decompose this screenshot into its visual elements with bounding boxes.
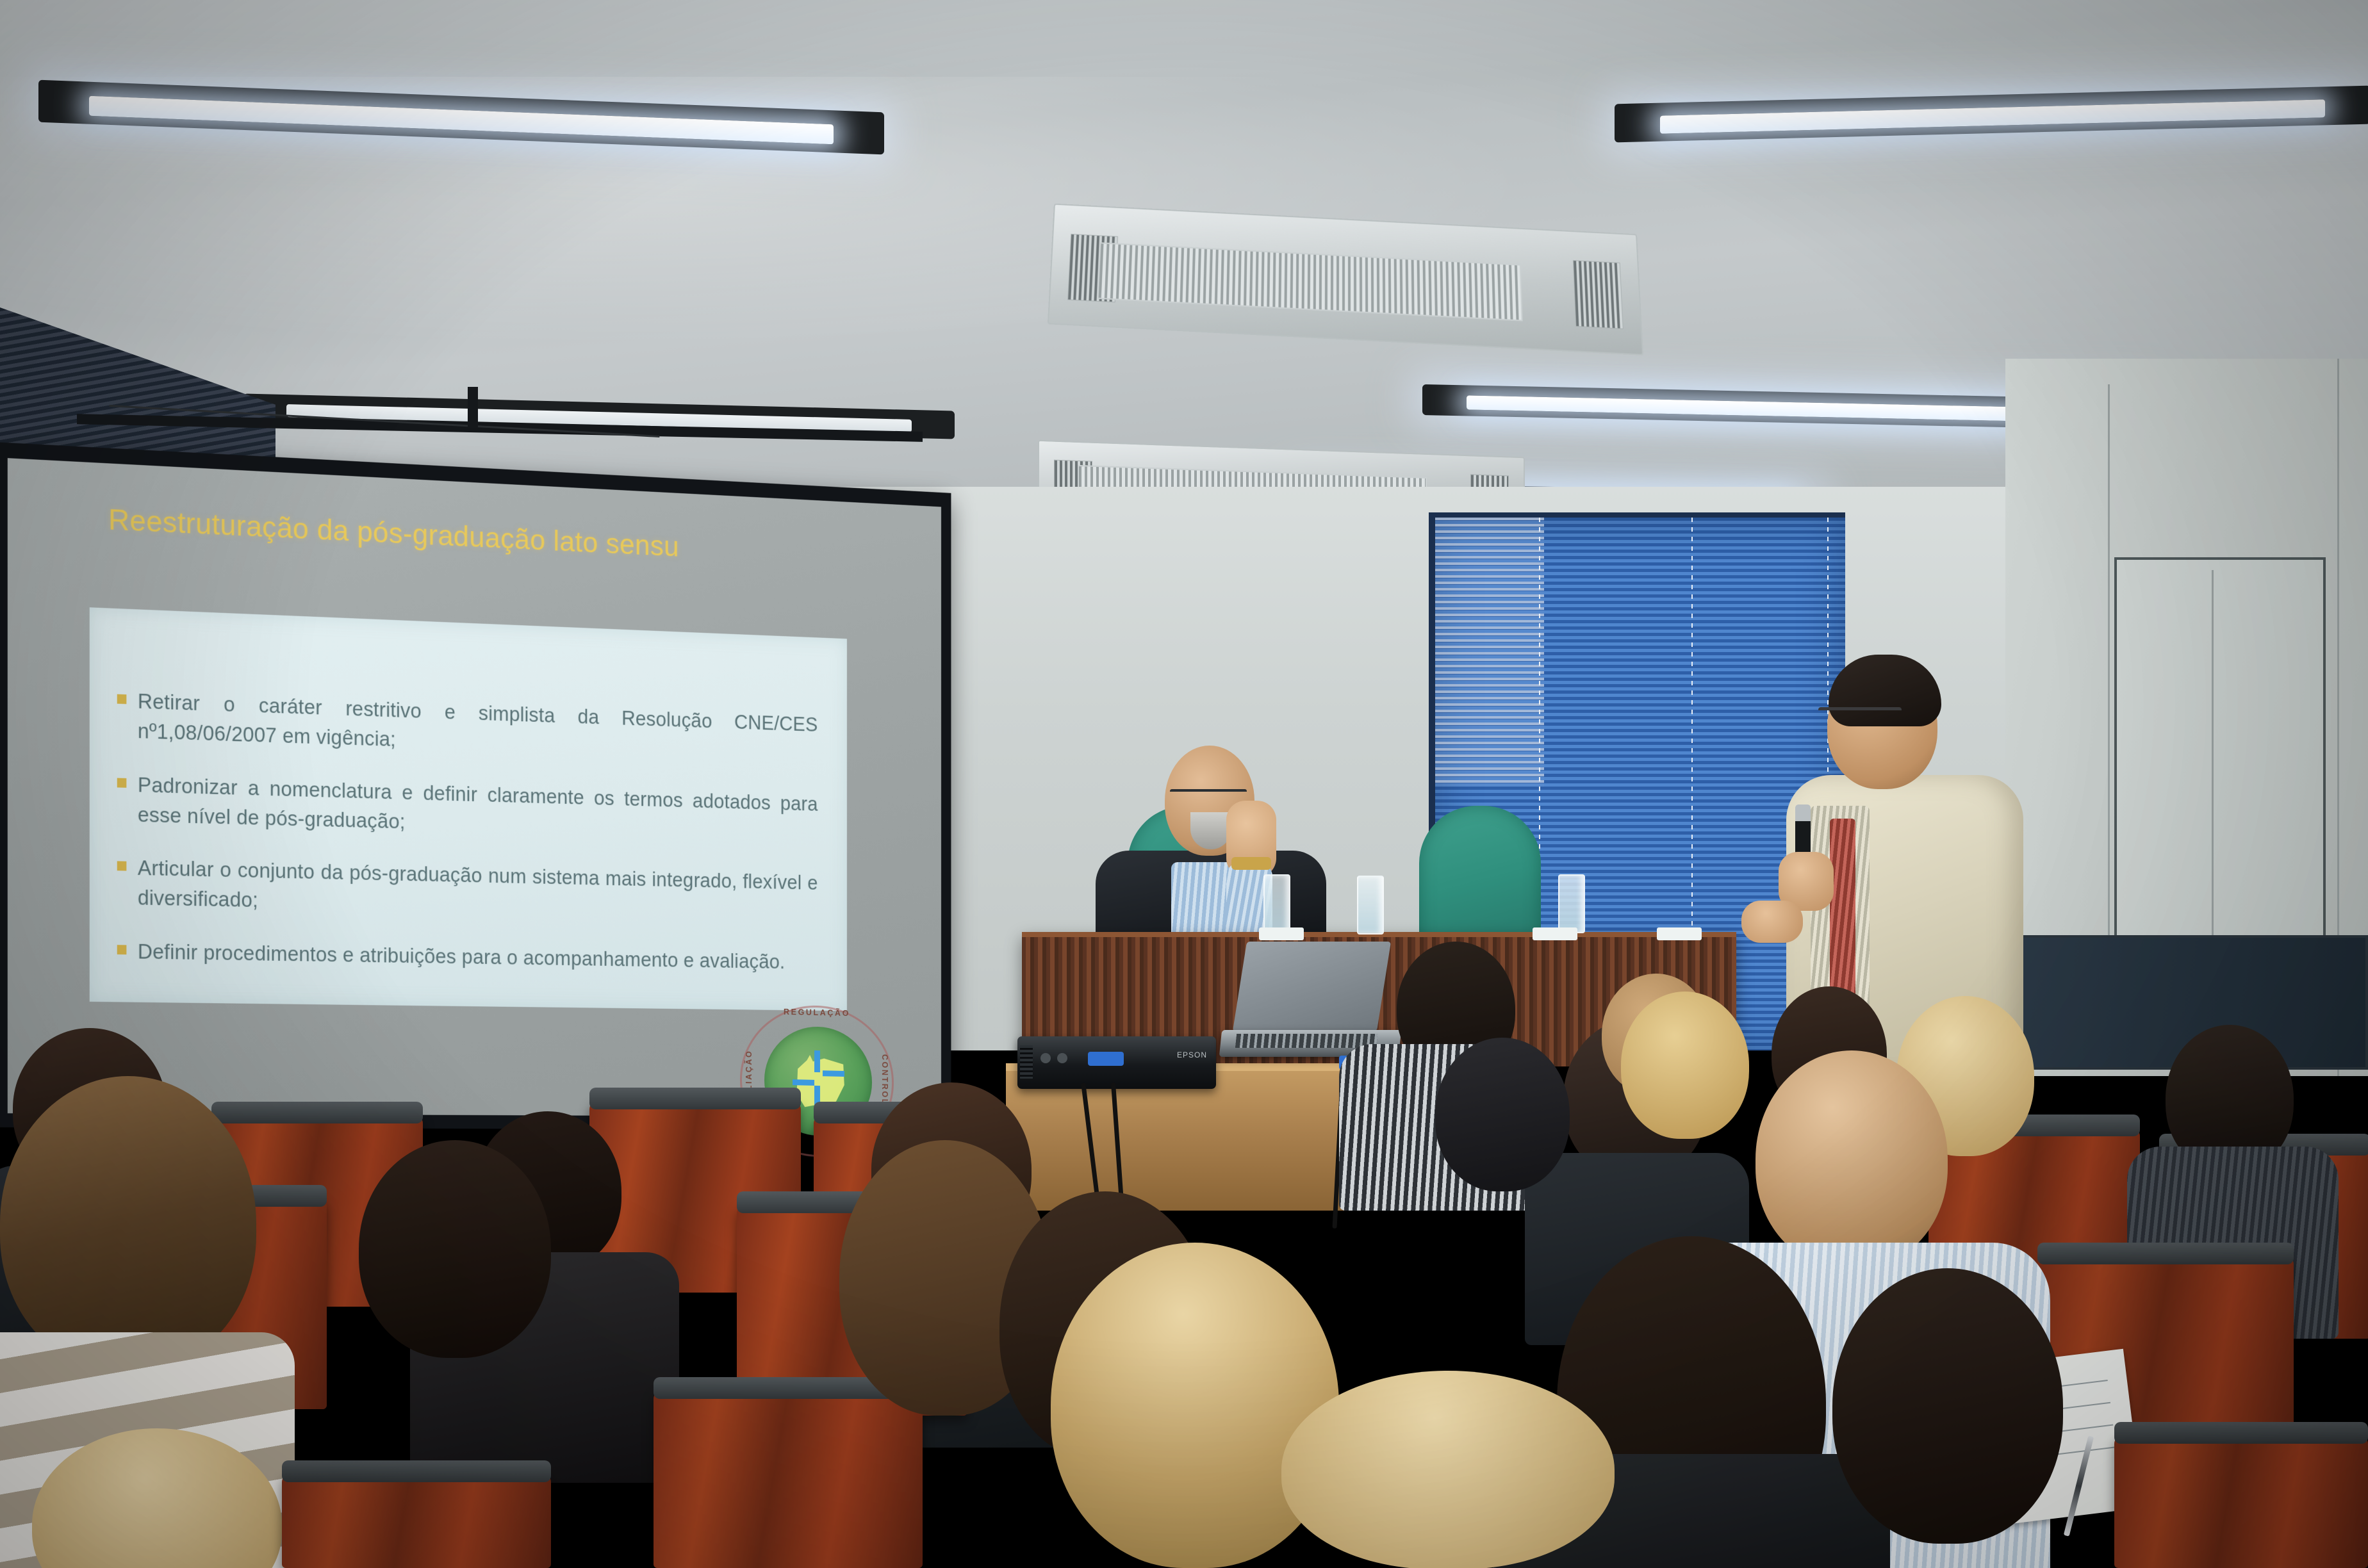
- laptop-screen: [1233, 942, 1391, 1031]
- list-item: Articular o conjunto da pós-graduação nu…: [117, 853, 818, 926]
- bullet-marker-icon: [117, 778, 127, 787]
- water-glass: [1558, 874, 1585, 933]
- projector-port-icon: [1040, 1053, 1051, 1063]
- napkin: [1657, 927, 1702, 940]
- audience-head: [1435, 1038, 1570, 1191]
- seal-arrow-up: [814, 1050, 820, 1072]
- screen-support-post: [468, 387, 478, 428]
- bullet-marker-icon: [117, 862, 127, 871]
- list-item: Padronizar a nomenclatura e definir clar…: [117, 769, 818, 846]
- moderator-glasses-icon: [1170, 789, 1247, 795]
- bullet-text: Definir procedimentos e atribuições para…: [138, 937, 785, 976]
- projection-screen: Reestruturação da pós-graduação lato sen…: [0, 442, 1032, 1127]
- moderator-watch: [1231, 857, 1271, 870]
- laptop-keyboard[interactable]: [1235, 1034, 1377, 1048]
- bullet-marker-icon: [117, 945, 127, 954]
- bullet-marker-icon: [117, 694, 127, 704]
- seal-arrow-left: [793, 1079, 814, 1086]
- audience-head-dark: [359, 1140, 551, 1358]
- slide-title: Reestruturação da pós-graduação lato sen…: [108, 500, 752, 568]
- projector-port-icon: [1057, 1053, 1067, 1063]
- blinds-light-leak: [1435, 518, 1544, 787]
- water-glass: [1263, 874, 1290, 933]
- seal-arrow-right: [823, 1070, 844, 1077]
- audience-head-brown: [0, 1076, 256, 1371]
- bullet-text: Retirar o caráter restritivo e simplista…: [138, 687, 818, 767]
- vga-connector: [1088, 1052, 1124, 1066]
- audience-chair[interactable]: [2114, 1435, 2368, 1568]
- seal-top-text: REGULAÇÃO: [740, 1006, 894, 1018]
- bullet-text: Articular o conjunto da pós-graduação nu…: [138, 854, 818, 926]
- napkin: [1533, 927, 1577, 940]
- bullet-text: Padronizar a nomenclatura e definir clar…: [138, 770, 818, 846]
- projector-brand-label: EPSON: [1177, 1050, 1207, 1059]
- water-glass: [1357, 876, 1384, 935]
- speaker-glasses-icon: [1818, 707, 1902, 714]
- speaker-hair: [1829, 655, 1941, 726]
- projector-vent-icon: [1020, 1045, 1033, 1079]
- audience-chair[interactable]: [654, 1390, 923, 1568]
- list-item: Retirar o caráter restritivo e simplista…: [117, 686, 818, 767]
- audience-head-blonde: [1281, 1371, 1615, 1568]
- slide-content-panel: Retirar o caráter restritivo e simplista…: [90, 607, 847, 1011]
- audience-head-blonde: [1051, 1243, 1339, 1568]
- speaker-gesturing-hand: [1741, 901, 1803, 943]
- napkin: [1259, 927, 1304, 940]
- list-item: Definir procedimentos e atribuições para…: [117, 936, 818, 977]
- bald-head: [1755, 1050, 1948, 1268]
- audience-chair[interactable]: [282, 1473, 551, 1568]
- slide-bullet-list: Retirar o caráter restritivo e simplista…: [117, 686, 818, 1000]
- presentation-photo-scene: Reestruturação da pós-graduação lato sen…: [0, 0, 2368, 1568]
- epson-projector: EPSON: [1017, 1036, 1216, 1089]
- audience-head-dark: [1832, 1268, 2063, 1544]
